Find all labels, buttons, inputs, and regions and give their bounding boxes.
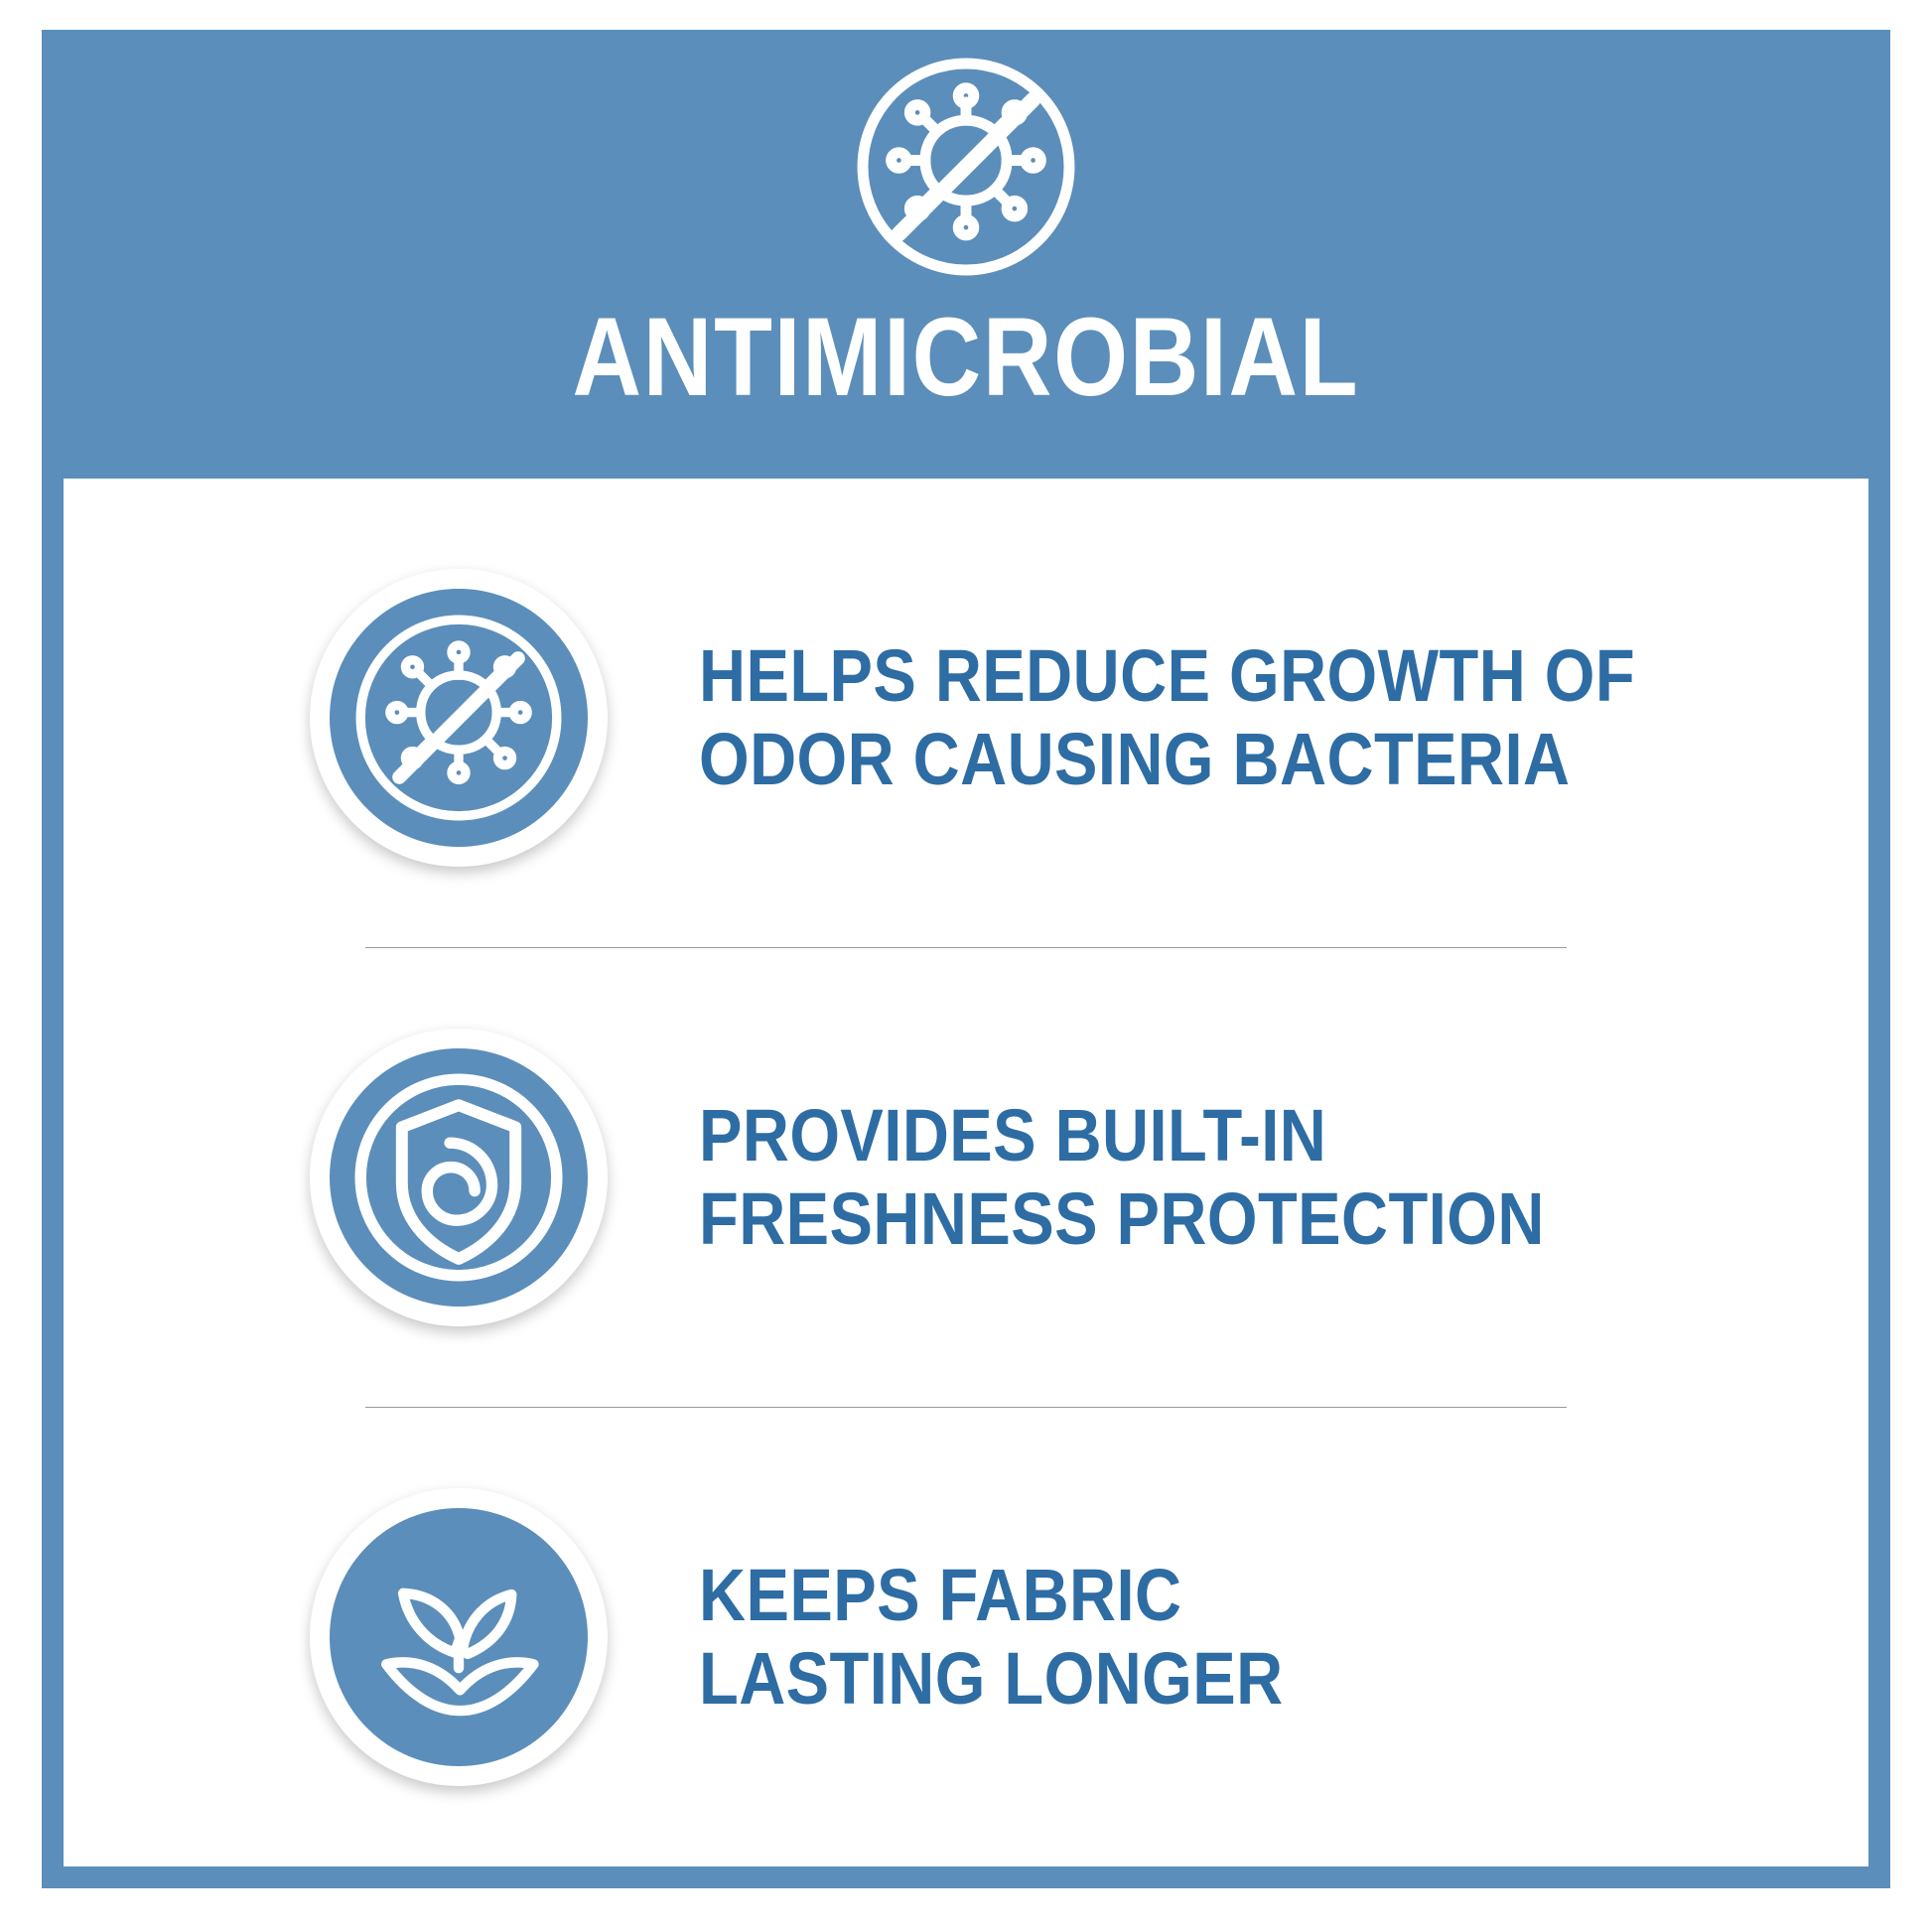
feature-icon-circle — [310, 1029, 608, 1326]
feature-text-line1: PROVIDES BUILT-IN — [699, 1094, 1545, 1177]
header-banner: ANTIMICROBIAL — [42, 30, 1890, 479]
feature-text-line1: HELPS REDUCE GROWTH OF — [699, 634, 1635, 718]
features-list: HELPS REDUCE GROWTH OF ODOR CAUSING BACT… — [64, 479, 1868, 1866]
feature-row: HELPS REDUCE GROWTH OF ODOR CAUSING BACT… — [64, 519, 1868, 916]
row-divider — [365, 947, 1567, 948]
row-divider — [365, 1407, 1567, 1408]
blue-frame: ANTIMICROBIAL — [42, 30, 1890, 1888]
feature-text-line2: ODOR CAUSING BACTERIA — [699, 718, 1635, 801]
leaf-fabric-icon — [330, 1508, 588, 1766]
shield-freshness-icon — [330, 1048, 588, 1307]
page-title: ANTIMICROBIAL — [573, 302, 1360, 413]
feature-text: HELPS REDUCE GROWTH OF ODOR CAUSING BACT… — [699, 634, 1635, 802]
feature-text: KEEPS FABRIC LASTING LONGER — [699, 1554, 1284, 1722]
feature-icon-circle — [310, 1488, 608, 1786]
features-panel: HELPS REDUCE GROWTH OF ODOR CAUSING BACT… — [64, 479, 1868, 1866]
no-virus-icon — [330, 589, 588, 847]
feature-icon-circle — [310, 569, 608, 867]
feature-text: PROVIDES BUILT-IN FRESHNESS PROTECTION — [699, 1094, 1545, 1262]
feature-row: KEEPS FABRIC LASTING LONGER — [64, 1439, 1868, 1836]
feature-text-line2: LASTING LONGER — [699, 1637, 1284, 1721]
no-virus-icon — [837, 38, 1095, 296]
feature-row: PROVIDES BUILT-IN FRESHNESS PROTECTION — [64, 979, 1868, 1376]
feature-text-line2: FRESHNESS PROTECTION — [699, 1177, 1545, 1261]
infographic-page: ANTIMICROBIAL — [0, 0, 1932, 1932]
feature-text-line1: KEEPS FABRIC — [699, 1554, 1284, 1637]
